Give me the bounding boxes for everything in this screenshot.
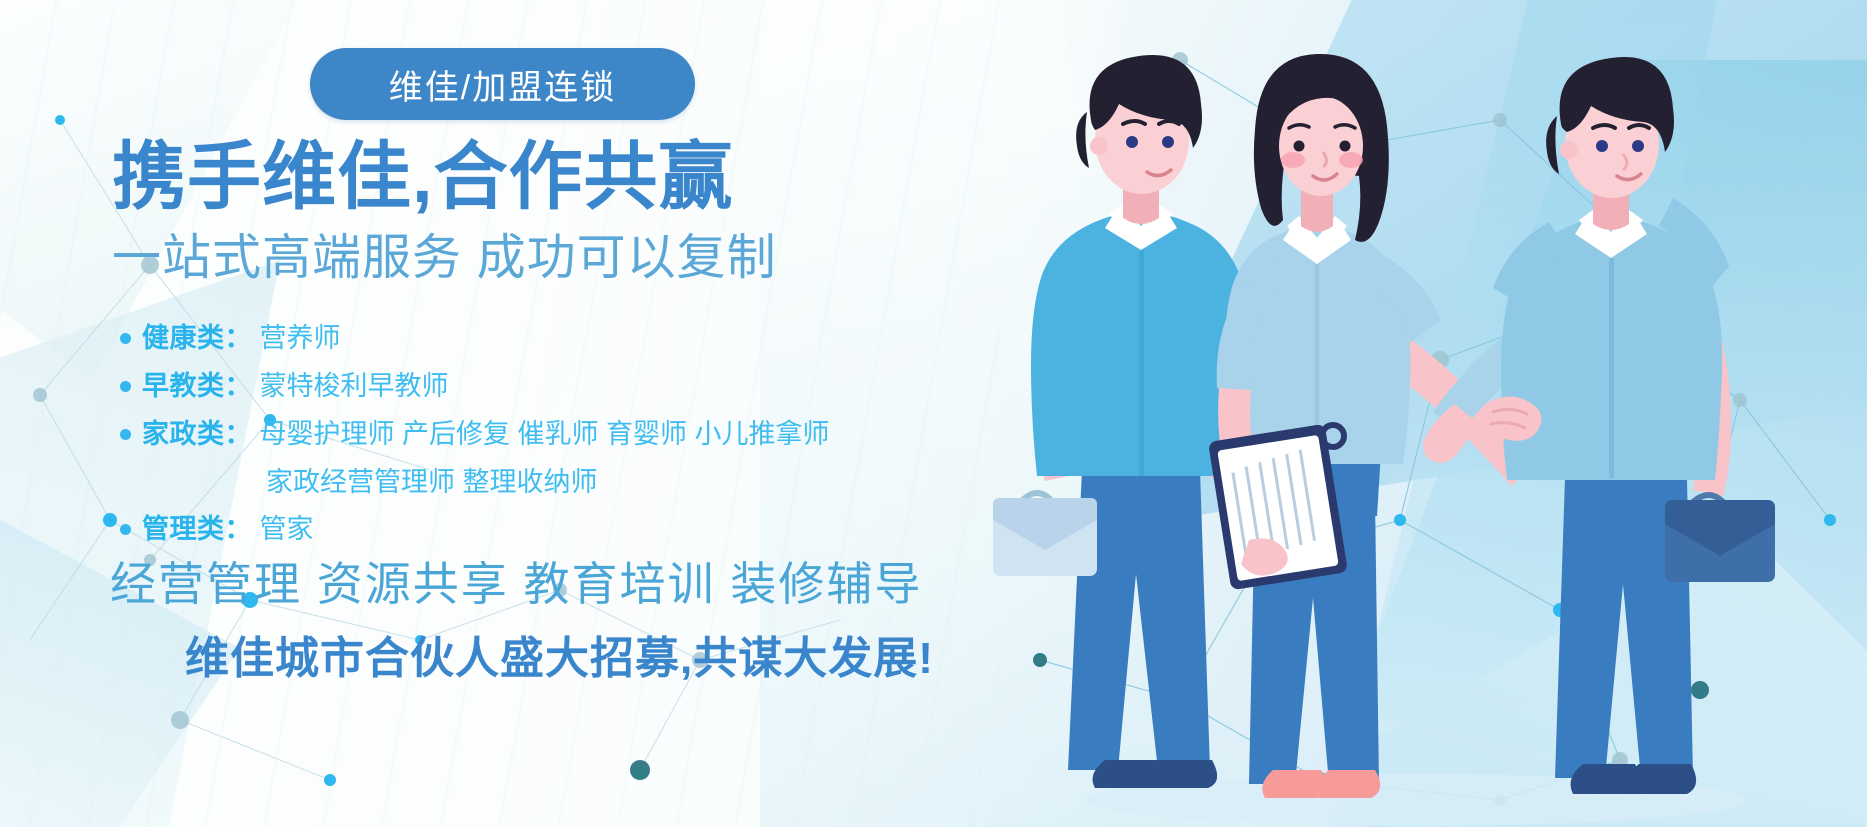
briefcase-right (1665, 495, 1775, 582)
list-item: 早教类 ： 蒙特梭利早教师 (120, 366, 940, 408)
bullet-dot-icon (120, 524, 131, 535)
category-colon: ： (225, 509, 252, 551)
bullet-dot-icon (120, 333, 131, 344)
bullet-dot-icon (120, 429, 131, 440)
list-item: 家政类 ： 母婴护理师 产后修复 催乳师 育婴师 小儿推拿师 (120, 414, 940, 456)
category-items: 管家 (260, 509, 314, 551)
badge-pill[interactable]: 维佳/加盟连锁 (310, 48, 695, 120)
cta-line: 维佳城市合伙人盛大招募,共谋大发展! (185, 622, 934, 686)
bullet-dot-icon (120, 381, 131, 392)
page-subtitle: 一站式高端服务 成功可以复制 (112, 230, 777, 286)
category-items: 母婴护理师 产后修复 催乳师 育婴师 小儿推拿师 (260, 414, 830, 456)
category-colon: ： (225, 414, 252, 456)
category-items-continuation: 家政经营管理师 整理收纳师 (120, 462, 940, 504)
category-name: 健康类 (142, 318, 225, 360)
briefcase-left (993, 493, 1097, 576)
category-list: 健康类 ： 营养师 早教类 ： 蒙特梭利早教师 家政类 ： 母婴护理师 产后修复… (120, 318, 940, 557)
promo-banner: 维佳/加盟连锁 携手维佳,合作共赢 一站式高端服务 成功可以复制 健康类 ： 营… (0, 0, 1867, 827)
figure-left-man (993, 55, 1251, 788)
banner-text-content: 维佳/加盟连锁 携手维佳,合作共赢 一站式高端服务 成功可以复制 健康类 ： 营… (0, 0, 1000, 827)
list-item: 管理类 ： 管家 (120, 509, 940, 551)
category-name: 家政类 (142, 414, 225, 456)
business-people-illustration (987, 0, 1867, 827)
figure-right-man (1423, 57, 1775, 794)
category-colon: ： (225, 318, 252, 360)
page-title: 携手维佳,合作共赢 (112, 140, 734, 214)
services-line: 经营管理 资源共享 教育培训 装修辅导 (110, 548, 922, 614)
category-name: 早教类 (142, 366, 225, 408)
category-name: 管理类 (142, 509, 225, 551)
category-items: 营养师 (260, 318, 341, 360)
category-items: 蒙特梭利早教师 (260, 366, 449, 408)
badge-label: 维佳/加盟连锁 (389, 60, 616, 109)
list-item: 健康类 ： 营养师 (120, 318, 940, 360)
category-colon: ： (225, 366, 252, 408)
